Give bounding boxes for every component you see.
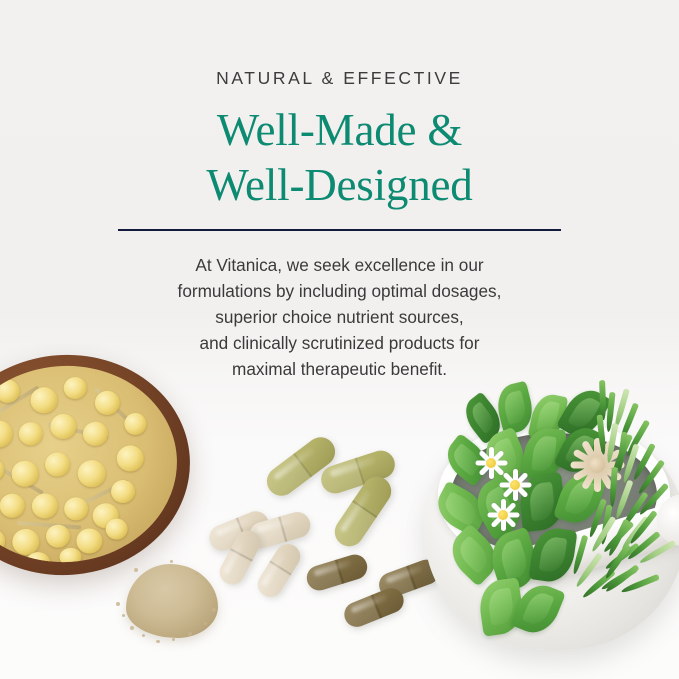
promo-banner: NATURAL & EFFECTIVE Well-Made & Well-Des… (0, 0, 679, 679)
daisy-flower (486, 498, 520, 532)
page-title: Well-Made & Well-Designed (0, 103, 679, 213)
body-line-1: At Vitanica, we seek excellence in our (0, 252, 679, 278)
eyebrow-text: NATURAL & EFFECTIVE (0, 68, 679, 89)
capsule-brown (341, 584, 408, 630)
body-line-3: superior choice nutrient sources, (0, 304, 679, 330)
promo-text-block: NATURAL & EFFECTIVE Well-Made & Well-Des… (0, 0, 679, 382)
capsule-brown (304, 551, 371, 593)
headline-line-1: Well-Made & (0, 103, 679, 158)
headline-line-2: Well-Designed (0, 158, 679, 213)
body-line-5: maximal therapeutic benefit. (0, 356, 679, 382)
body-line-2: formulations by including optimal dosage… (0, 278, 679, 304)
horizontal-divider (118, 229, 561, 231)
divider-wrap (0, 229, 679, 231)
daisy-flower (498, 468, 532, 502)
body-line-4: and clinically scrutinized products for (0, 330, 679, 356)
mortar-and-pestle-image (420, 392, 679, 679)
body-copy: At Vitanica, we seek excellence in our f… (0, 252, 679, 383)
tablet-cream (253, 539, 305, 601)
